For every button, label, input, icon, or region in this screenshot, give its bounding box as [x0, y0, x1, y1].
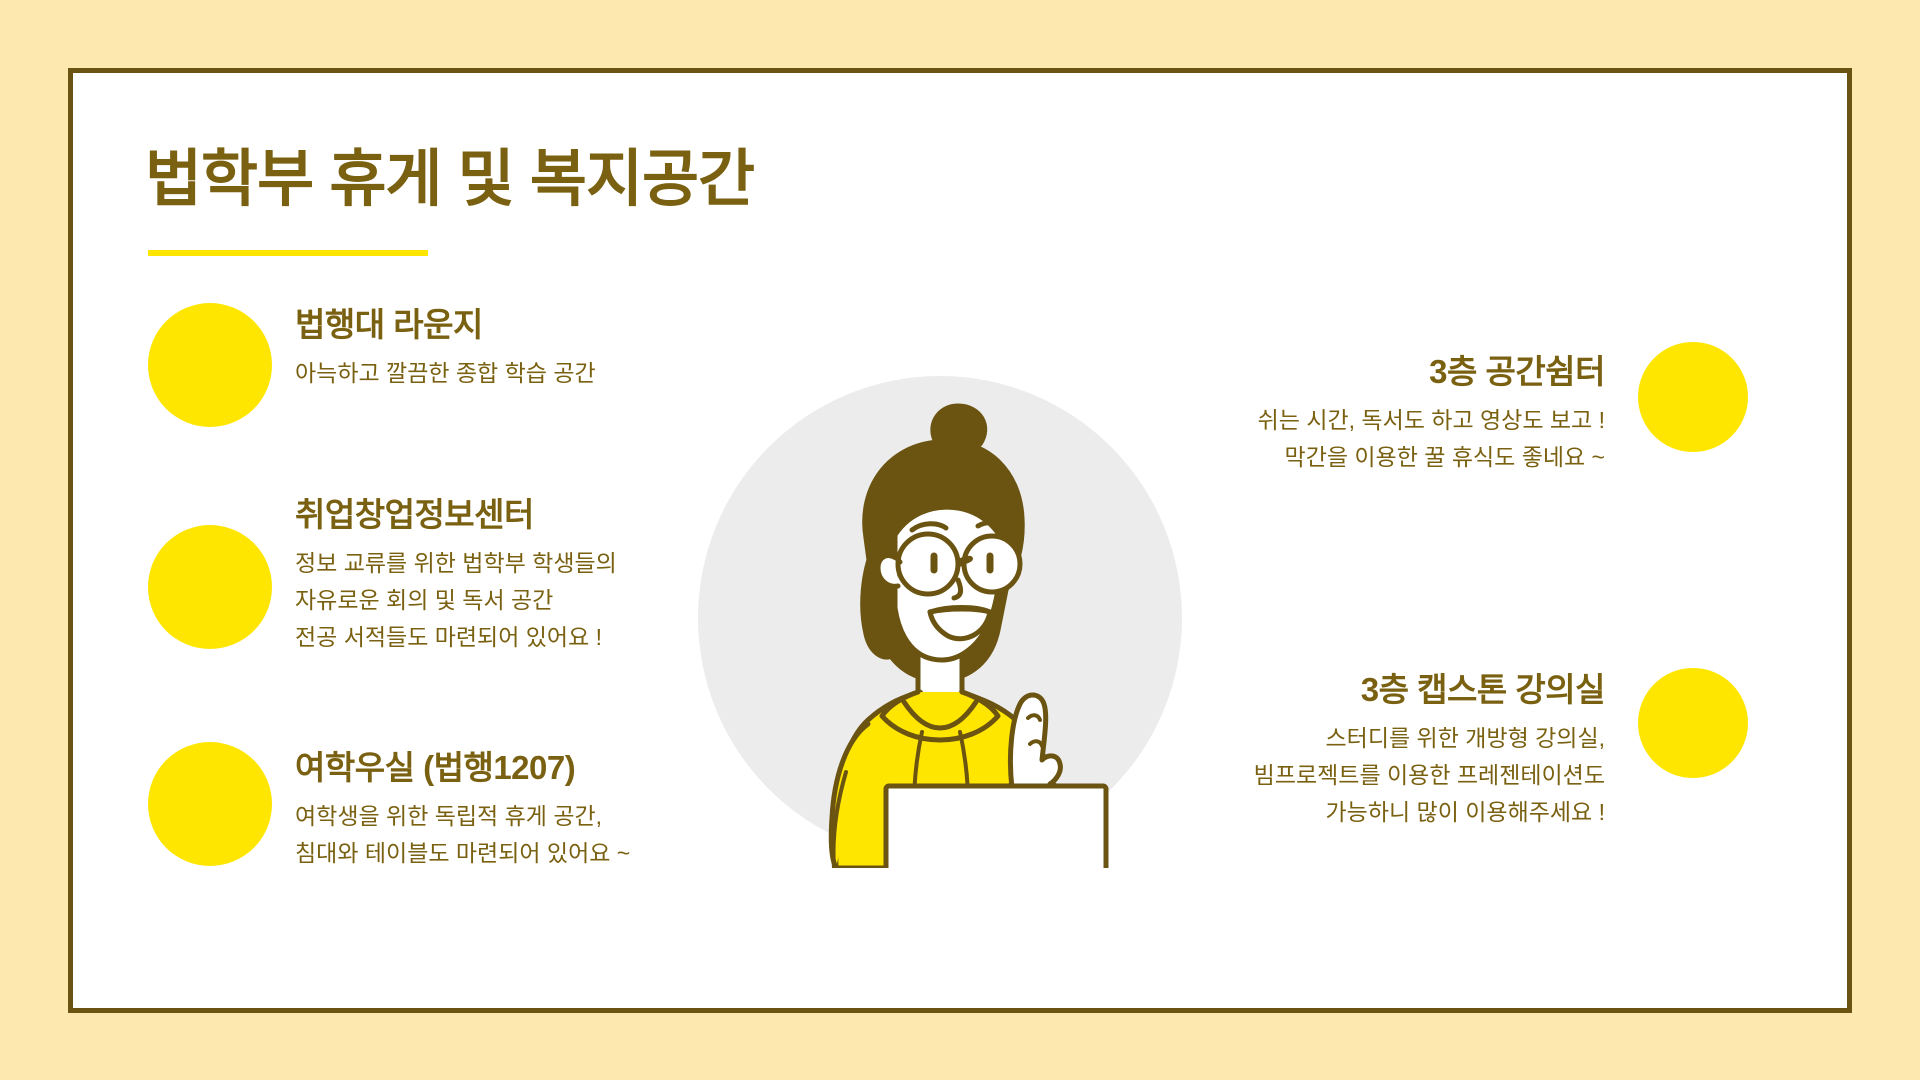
page-title: 법학부 휴게 및 복지공간	[145, 128, 754, 218]
info-item-description: 아늑하고 깔끔한 종합 학습 공간	[295, 355, 755, 392]
laptop-screen	[886, 786, 1106, 868]
info-item-title: 법행대 라운지	[295, 305, 755, 345]
bullet-dot-5	[1638, 668, 1748, 778]
glasses-temple	[898, 560, 900, 562]
title-underline	[148, 250, 428, 256]
hair-bun	[933, 406, 985, 444]
bullet-dot-1	[148, 303, 272, 427]
glasses-lens-left	[898, 534, 958, 594]
bullet-dot-2	[148, 525, 272, 649]
glasses-bridge	[958, 558, 970, 562]
bullet-dot-3	[148, 742, 272, 866]
woman-with-laptop-illustration	[690, 368, 1190, 868]
ear	[878, 556, 898, 587]
slide-root: 법학부 휴게 및 복지공간 법행대 라운지 아늑하고 깔끔한 종합 학습 공간 …	[0, 0, 1920, 1080]
bullet-dot-4	[1638, 342, 1748, 452]
info-item-lounge: 법행대 라운지 아늑하고 깔끔한 종합 학습 공간	[295, 305, 755, 392]
